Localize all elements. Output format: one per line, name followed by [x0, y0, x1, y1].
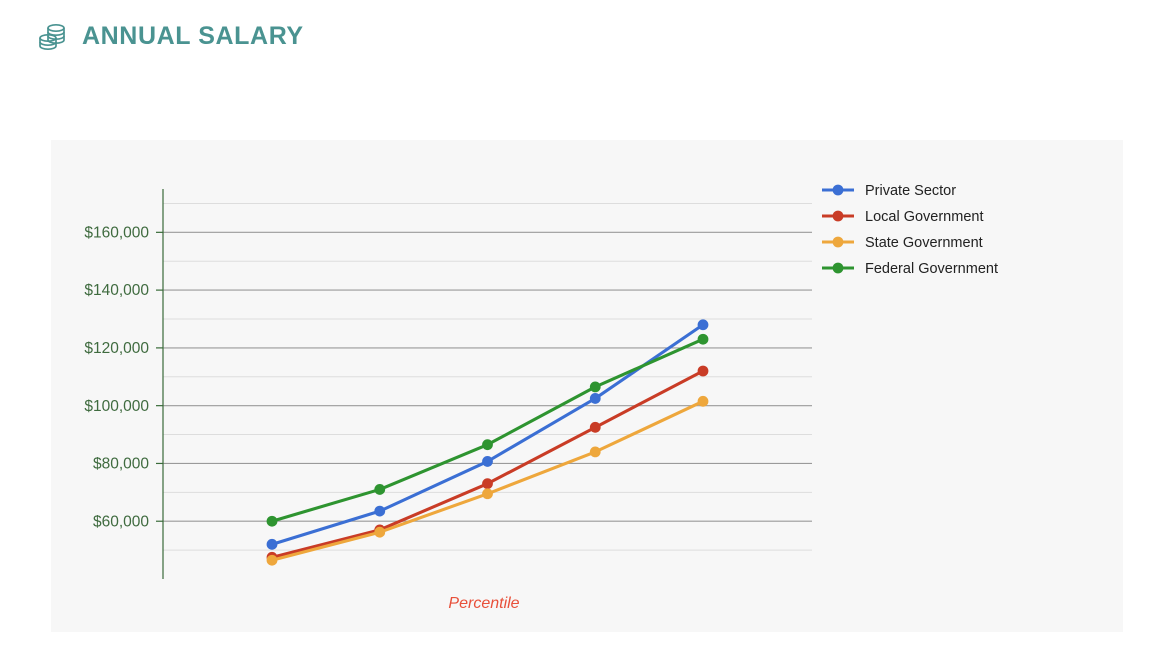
data-point-marker[interactable]	[698, 334, 709, 345]
data-point-marker[interactable]	[698, 396, 709, 407]
legend-swatch-marker	[833, 237, 844, 248]
data-point-marker[interactable]	[482, 478, 493, 489]
data-point-marker[interactable]	[698, 319, 709, 330]
legend-item[interactable]: State Government	[822, 235, 983, 251]
legend-item-label: Private Sector	[865, 183, 956, 199]
data-point-marker[interactable]	[374, 484, 385, 495]
data-point-marker[interactable]	[590, 422, 601, 433]
chart-x-axis-title: Percentile	[448, 595, 519, 612]
chart-legend: Private SectorLocal GovernmentState Gove…	[822, 183, 998, 277]
chart-card: $160,000$140,000$120,000$100,000$80,000$…	[51, 140, 1123, 632]
legend-swatch-marker	[833, 185, 844, 196]
legend-item[interactable]: Local Government	[822, 209, 983, 225]
x-axis-title: Percentile	[448, 595, 519, 612]
data-point-marker[interactable]	[482, 439, 493, 450]
data-point-marker[interactable]	[590, 381, 601, 392]
legend-item[interactable]: Federal Government	[822, 261, 998, 277]
chart-y-tick-labels: $160,000$140,000$120,000$100,000$80,000$…	[84, 224, 149, 530]
legend-item-label: Local Government	[865, 209, 983, 225]
y-axis-tick-label: $80,000	[93, 456, 149, 473]
y-axis-tick-label: $60,000	[93, 513, 149, 530]
data-point-marker[interactable]	[267, 539, 278, 550]
line-chart: $160,000$140,000$120,000$100,000$80,000$…	[51, 140, 1123, 632]
data-point-marker[interactable]	[482, 456, 493, 467]
data-point-marker[interactable]	[590, 393, 601, 404]
data-point-marker[interactable]	[698, 366, 709, 377]
data-point-marker[interactable]	[482, 488, 493, 499]
data-point-marker[interactable]	[374, 527, 385, 538]
chart-y-axis	[156, 189, 163, 579]
coin-stack-icon	[38, 20, 68, 52]
legend-item[interactable]: Private Sector	[822, 183, 956, 199]
chart-series-layer	[267, 319, 709, 565]
page-title: ANNUAL SALARY	[82, 22, 304, 51]
legend-item-label: State Government	[865, 235, 983, 251]
legend-swatch-marker	[833, 263, 844, 274]
page-header: ANNUAL SALARY	[38, 20, 304, 52]
data-point-marker[interactable]	[267, 516, 278, 527]
legend-swatch-marker	[833, 211, 844, 222]
legend-item-label: Federal Government	[865, 261, 998, 277]
y-axis-tick-label: $100,000	[84, 398, 149, 415]
y-axis-tick-label: $160,000	[84, 224, 149, 241]
y-axis-tick-label: $120,000	[84, 340, 149, 357]
y-axis-tick-label: $140,000	[84, 282, 149, 299]
data-point-marker[interactable]	[590, 446, 601, 457]
data-point-marker[interactable]	[267, 555, 278, 566]
data-point-marker[interactable]	[374, 506, 385, 517]
